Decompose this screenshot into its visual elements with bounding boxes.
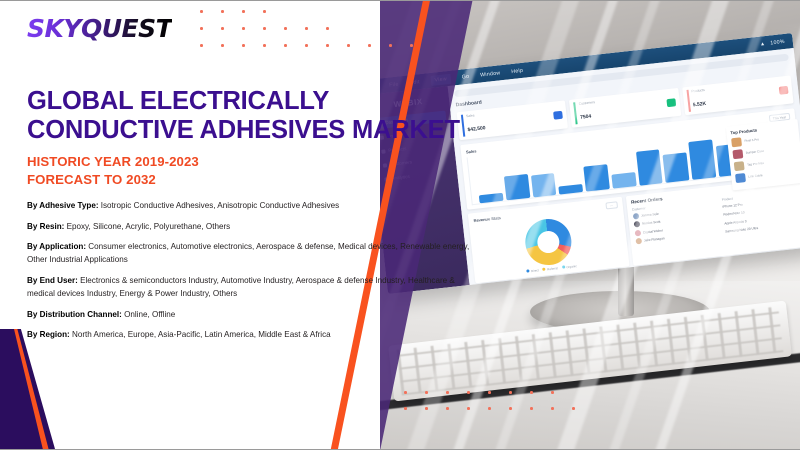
dot: [305, 10, 308, 13]
segment-label: By Region:: [27, 330, 70, 339]
segment-end-user: By End User: Electronics & semiconductor…: [27, 274, 472, 300]
dot: [326, 44, 329, 47]
dot: [530, 391, 533, 394]
dot: [389, 10, 392, 13]
segment-value: Epoxy, Silicone, Acrylic, Polyurethane, …: [64, 222, 230, 231]
dot: [221, 10, 224, 13]
dot: [572, 391, 575, 394]
dot: [368, 27, 371, 30]
segment-value: Isotropic Conductive Adhesives, Anisotro…: [99, 201, 340, 210]
dot: [347, 27, 350, 30]
segment-label: By Distribution Channel:: [27, 310, 122, 319]
dot: [200, 44, 203, 47]
dot: [347, 10, 350, 13]
dot-pattern-bottom: [404, 391, 593, 423]
dot: [263, 44, 266, 47]
dot: [404, 391, 407, 394]
dot: [509, 407, 512, 410]
dot: [410, 27, 413, 30]
segment-region: By Region: North America, Europe, Asia-P…: [27, 328, 472, 341]
dot: [389, 27, 392, 30]
dot: [410, 44, 413, 47]
segment-value: Consumer electronics, Automotive electro…: [27, 242, 469, 264]
dot: [467, 407, 470, 410]
report-title: GLOBAL ELECTRICALLY CONDUCTIVE ADHESIVES…: [27, 87, 477, 145]
dot: [221, 27, 224, 30]
dot: [242, 44, 245, 47]
segment-value: North America, Europe, Asia-Pacific, Lat…: [70, 330, 331, 339]
poster-canvas: File Edit View Go Window Help ▲ 100% WEB…: [0, 0, 800, 450]
segment-distribution-channel: By Distribution Channel: Online, Offline: [27, 308, 472, 321]
dot: [446, 391, 449, 394]
dot: [284, 27, 287, 30]
dot: [305, 27, 308, 30]
dot: [410, 10, 413, 13]
dot: [347, 44, 350, 47]
segment-label: By Resin:: [27, 222, 64, 231]
dot: [368, 10, 371, 13]
segment-resin: By Resin: Epoxy, Silicone, Acrylic, Poly…: [27, 220, 472, 233]
dot: [551, 391, 554, 394]
segment-value: Electronics & semiconductors Industry, A…: [27, 276, 455, 298]
segment-label: By Adhesive Type:: [27, 201, 99, 210]
dot: [284, 44, 287, 47]
dot: [425, 391, 428, 394]
historic-year-line: HISTORIC YEAR 2019-2023: [27, 153, 199, 171]
segment-value: Online, Offline: [122, 310, 175, 319]
segment-adhesive-type: By Adhesive Type: Isotropic Conductive A…: [27, 199, 472, 212]
dot: [263, 10, 266, 13]
dot: [551, 407, 554, 410]
dot: [389, 44, 392, 47]
segment-label: By Application:: [27, 242, 86, 251]
dot: [530, 407, 533, 410]
report-subtitle: HISTORIC YEAR 2019-2023 FORECAST TO 2032: [27, 153, 199, 188]
dot: [200, 27, 203, 30]
dot: [467, 391, 470, 394]
dot: [488, 407, 491, 410]
report-title-line1: GLOBAL ELECTRICALLY: [27, 87, 477, 116]
dot: [284, 10, 287, 13]
dot: [305, 44, 308, 47]
dot: [263, 27, 266, 30]
forecast-year-line: FORECAST TO 2032: [27, 171, 199, 189]
segment-label: By End User:: [27, 276, 78, 285]
dot: [368, 44, 371, 47]
dot: [200, 10, 203, 13]
dot: [425, 407, 428, 410]
dot: [446, 407, 449, 410]
dot: [488, 391, 491, 394]
dot: [326, 10, 329, 13]
dot: [242, 10, 245, 13]
dot: [572, 407, 575, 410]
segment-application: By Application: Consumer electronics, Au…: [27, 240, 472, 266]
dot: [509, 391, 512, 394]
dot-pattern-top: [200, 10, 431, 61]
dot: [221, 44, 224, 47]
dot: [326, 27, 329, 30]
dot: [404, 407, 407, 410]
segmentation-list: By Adhesive Type: Isotropic Conductive A…: [27, 199, 472, 349]
report-title-line2: CONDUCTIVE ADHESIVES MARKET: [27, 116, 477, 145]
skyquest-logo[interactable]: SKYQUEST: [27, 14, 172, 43]
dot: [242, 27, 245, 30]
